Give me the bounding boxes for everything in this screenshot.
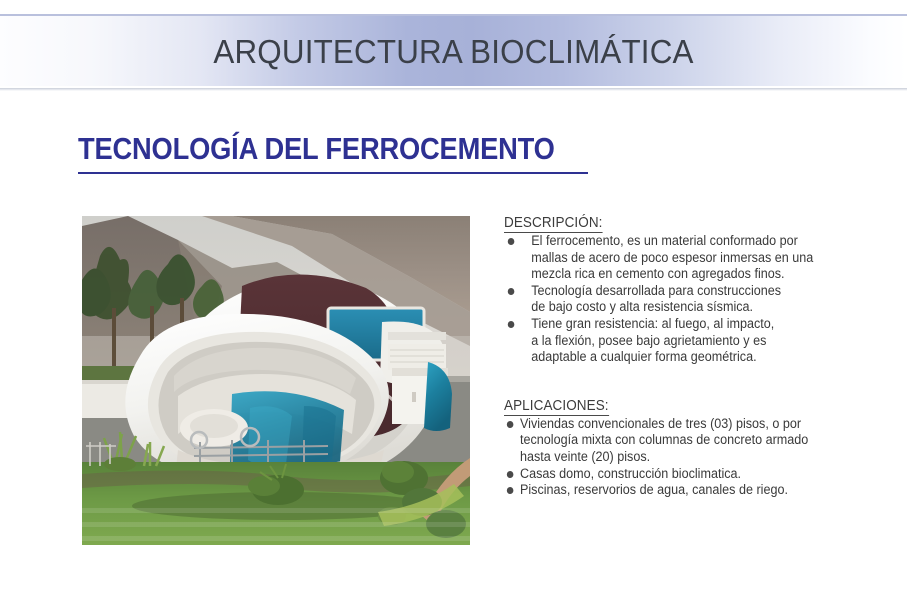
bullet-dot-icon <box>507 487 514 494</box>
slide-header-band: ARQUITECTURA BIOCLIMÁTICA <box>0 14 907 86</box>
applications-block: APLICACIONES: Viviendas convencionales d… <box>504 397 896 499</box>
slide-header-title: ARQUITECTURA BIOCLIMÁTICA <box>23 16 885 88</box>
description-block: DESCRIPCIÓN: El ferrocemento, es un mate… <box>504 214 896 366</box>
list-item-text: Piscinas, reservorios de agua, canales d… <box>520 482 873 499</box>
bullet-dot-icon <box>508 238 515 245</box>
description-heading: DESCRIPCIÓN: <box>504 215 603 233</box>
description-bullet-list: El ferrocemento, es un material conforma… <box>504 233 896 366</box>
list-item-text: El ferrocemento, es un material conforma… <box>531 233 872 283</box>
list-item: Piscinas, reservorios de agua, canales d… <box>504 482 872 499</box>
bullet-dot-icon <box>507 421 514 428</box>
ferrocement-dome-house-photo <box>82 216 470 545</box>
list-item: El ferrocemento, es un material conforma… <box>504 233 872 283</box>
list-item-text: Viviendas convencionales de tres (03) pi… <box>520 416 873 466</box>
content-text-column: DESCRIPCIÓN: El ferrocemento, es un mate… <box>504 214 896 499</box>
list-item: Viviendas convencionales de tres (03) pi… <box>504 416 872 466</box>
bullet-dot-icon <box>507 471 514 478</box>
list-item-text: Casas domo, construcción bioclimatica. <box>520 466 873 483</box>
list-item: Tecnología desarrollada para construccio… <box>504 283 872 316</box>
page-title: TECNOLOGÍA DEL FERROCEMENTO <box>78 131 555 167</box>
page-title-underline <box>78 172 588 174</box>
bullet-dot-icon <box>508 321 515 328</box>
list-item-text: Tiene gran resistencia: al fuego, al imp… <box>531 316 872 366</box>
bullet-dot-icon <box>508 288 515 295</box>
applications-bullet-list: Viviendas convencionales de tres (03) pi… <box>504 416 896 499</box>
list-item: Casas domo, construcción bioclimatica. <box>504 466 872 483</box>
list-item: Tiene gran resistencia: al fuego, al imp… <box>504 316 872 366</box>
applications-heading: APLICACIONES: <box>504 398 609 416</box>
list-item-text: Tecnología desarrollada para construccio… <box>531 283 872 316</box>
